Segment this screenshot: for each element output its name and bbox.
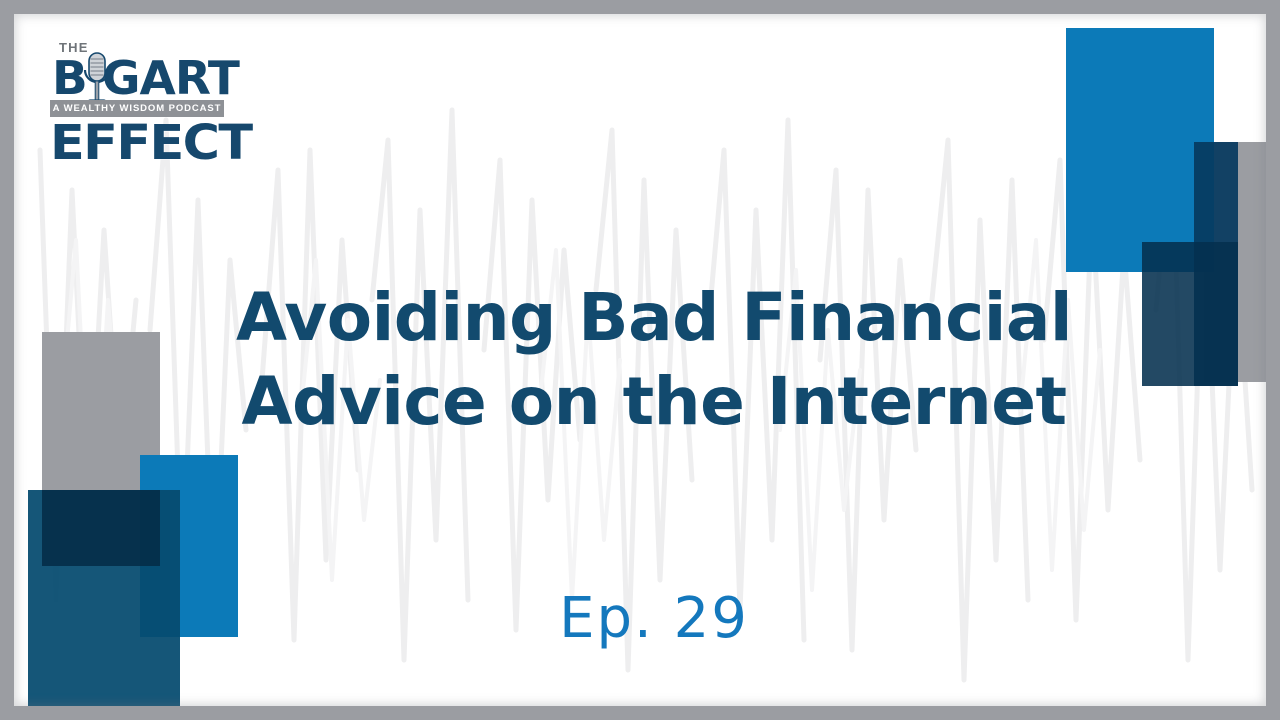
decor-block-top-right-blue [1066,28,1214,272]
episode-number-label: Ep. 29 [14,586,1266,651]
podcast-episode-card: THE B GART [0,0,1280,720]
card-stage: THE B GART [14,14,1266,706]
episode-title-line-2: Advice on the Internet [14,360,1266,444]
podcast-logo: THE B GART [44,40,224,168]
decor-block-bottom-left-navy-dark [42,490,160,566]
episode-title-line-1: Avoiding Bad Financial [14,276,1266,360]
logo-effect-text: EFFECT [50,116,252,170]
logo-tagline-text: A WEALTHY WISDOM PODCAST [53,103,222,114]
episode-title: Avoiding Bad Financial Advice on the Int… [14,276,1266,444]
